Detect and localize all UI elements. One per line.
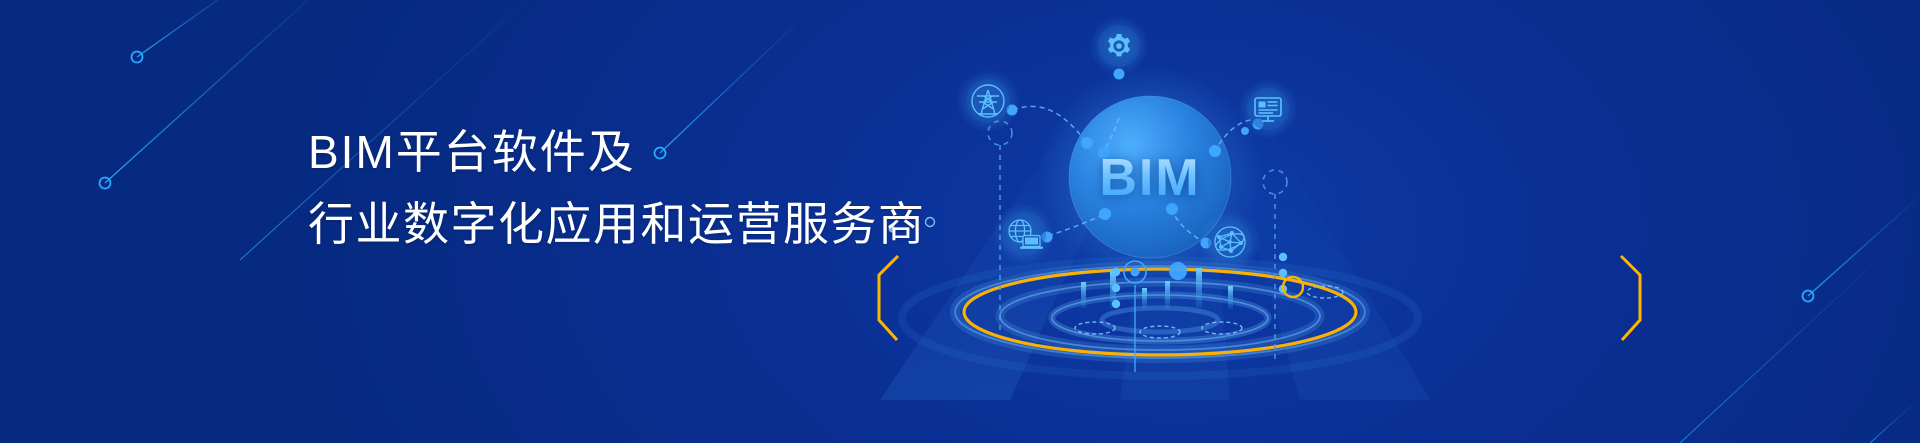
bracket-left xyxy=(879,256,898,340)
dot-column-left xyxy=(1112,268,1120,308)
globe-laptop-icon xyxy=(993,203,1055,265)
bracket-right xyxy=(1621,256,1640,340)
hero-banner: BIM平台软件及 行业数字化应用和运营服务商 xyxy=(0,0,1920,443)
bim-illustration xyxy=(0,0,1920,443)
monitor-icon xyxy=(1238,79,1298,139)
power-tower-icon xyxy=(956,69,1020,133)
sphere-label: BIM xyxy=(1060,148,1240,208)
network-icon xyxy=(1199,211,1261,273)
large-node-dot xyxy=(1169,262,1187,280)
gear-icon xyxy=(1089,16,1149,76)
